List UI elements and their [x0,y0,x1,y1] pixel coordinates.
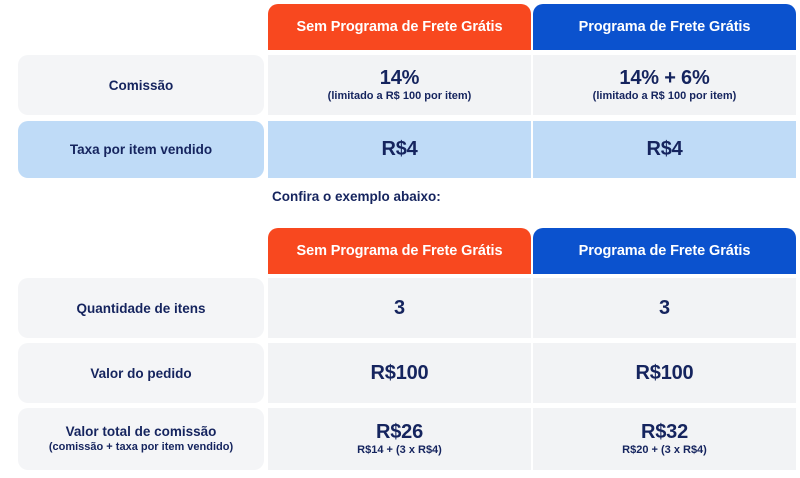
value-main: 14% [380,67,419,89]
row-value-quantidade-free-shipping: 3 [533,278,796,338]
table-row: Quantidade de itens 3 3 [0,278,800,338]
row-value-valor-pedido-no-free-shipping: R$100 [268,343,531,403]
value-sub: (limitado a R$ 100 por item) [593,90,737,103]
value-main: R$4 [381,138,417,160]
table-row: Valor do pedido R$100 R$100 [0,343,800,403]
row-value-taxa-free-shipping: R$4 [533,121,796,178]
value-main: R$4 [646,138,682,160]
example-table-header-row: Sem Programa de Frete Grátis Programa de… [0,228,800,274]
example-header-free-shipping: Programa de Frete Grátis [533,228,796,274]
row-value-taxa-no-free-shipping: R$4 [268,121,531,178]
row-value-total-free-shipping: R$32 R$20 + (3 x R$4) [533,408,796,470]
row-label-valor-pedido: Valor do pedido [18,343,264,403]
row-label-text: Comissão [109,78,174,93]
value-main: R$100 [636,362,694,384]
example-table: Sem Programa de Frete Grátis Programa de… [0,228,800,470]
row-value-total-no-free-shipping: R$26 R$14 + (3 x R$4) [268,408,531,470]
row-label-quantidade-itens: Quantidade de itens [18,278,264,338]
table-row: Taxa por item vendido R$4 R$4 [0,121,800,178]
fees-table-header-row: Sem Programa de Frete Grátis Programa de… [0,4,800,50]
value-main: 3 [659,297,670,319]
example-header-no-free-shipping: Sem Programa de Frete Grátis [268,228,531,274]
row-label-text: Valor do pedido [90,366,191,381]
table-row: Comissão 14% (limitado a R$ 100 por item… [0,55,800,115]
value-main: R$32 [641,421,688,443]
row-value-comissao-free-shipping: 14% + 6% (limitado a R$ 100 por item) [533,55,796,115]
row-value-quantidade-no-free-shipping: 3 [268,278,531,338]
example-caption: Confira o exemplo abaixo: [272,189,441,204]
row-label-text: Quantidade de itens [76,301,205,316]
value-main: R$100 [371,362,429,384]
value-sub: R$20 + (3 x R$4) [622,444,707,457]
value-main: R$26 [376,421,423,443]
fees-header-no-free-shipping: Sem Programa de Frete Grátis [268,4,531,50]
fees-table: Sem Programa de Frete Grátis Programa de… [0,4,800,178]
fees-header-free-shipping: Programa de Frete Grátis [533,4,796,50]
row-label-valor-total-comissao: Valor total de comissão (comissão + taxa… [18,408,264,470]
value-main: 14% + 6% [619,67,709,89]
row-label-comissao: Comissão [18,55,264,115]
fee-comparison-infographic: Sem Programa de Frete Grátis Programa de… [0,0,800,478]
row-label-subtext: (comissão + taxa por item vendido) [49,441,233,454]
row-value-comissao-no-free-shipping: 14% (limitado a R$ 100 por item) [268,55,531,115]
row-value-valor-pedido-free-shipping: R$100 [533,343,796,403]
value-sub: (limitado a R$ 100 por item) [328,90,472,103]
row-label-text: Taxa por item vendido [70,142,212,157]
row-label-text: Valor total de comissão [66,424,217,439]
value-main: 3 [394,297,405,319]
table-row: Valor total de comissão (comissão + taxa… [0,408,800,470]
value-sub: R$14 + (3 x R$4) [357,444,442,457]
row-label-taxa-item: Taxa por item vendido [18,121,264,178]
